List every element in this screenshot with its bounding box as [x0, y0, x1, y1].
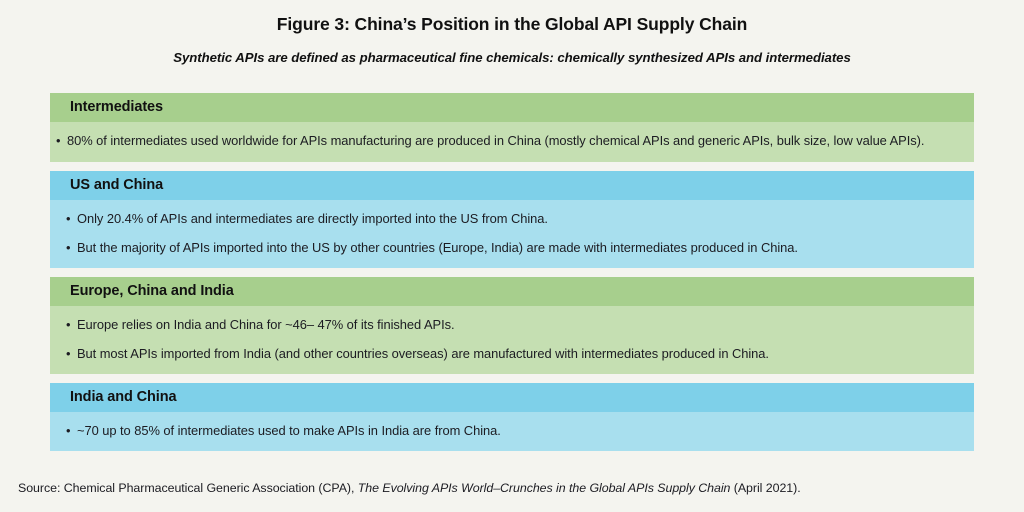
section-header-india-and-china: India and China [50, 383, 974, 412]
list-item: • Europe relies on India and China for ~… [66, 315, 958, 334]
list-item: • But most APIs imported from India (and… [66, 344, 958, 363]
source-note: Source: Chemical Pharmaceutical Generic … [18, 480, 801, 496]
list-item: • 80% of intermediates used worldwide fo… [56, 131, 958, 151]
bullet-icon: • [66, 238, 77, 257]
section-header-europe-china-india: Europe, China and India [50, 277, 974, 306]
bullet-icon: • [66, 344, 77, 363]
section-body-us-and-china: • Only 20.4% of APIs and intermediates a… [50, 200, 974, 268]
source-suffix: (April 2021). [730, 481, 800, 495]
bullet-icon: • [66, 209, 77, 228]
section-stack: Intermediates • 80% of intermediates use… [50, 93, 974, 451]
source-prefix: Source: Chemical Pharmaceutical Generic … [18, 481, 358, 495]
section-europe-china-india: Europe, China and India • Europe relies … [50, 277, 974, 374]
bullet-icon: • [66, 315, 77, 334]
section-body-europe-china-india: • Europe relies on India and China for ~… [50, 306, 974, 374]
page-title: Figure 3: China’s Position in the Global… [0, 14, 1024, 35]
source-title: The Evolving APIs World–Crunches in the … [358, 481, 731, 495]
list-item-text: Only 20.4% of APIs and intermediates are… [77, 209, 958, 228]
section-header-us-and-china: US and China [50, 171, 974, 200]
list-item-text: Europe relies on India and China for ~46… [77, 315, 958, 334]
list-item-text: But the majority of APIs imported into t… [77, 238, 958, 257]
section-india-and-china: India and China • ~70 up to 85% of inter… [50, 383, 974, 451]
list-item-text: But most APIs imported from India (and o… [77, 344, 958, 363]
bullet-icon: • [56, 131, 67, 150]
section-header-intermediates: Intermediates [50, 93, 974, 122]
section-intermediates: Intermediates • 80% of intermediates use… [50, 93, 974, 162]
section-us-and-china: US and China • Only 20.4% of APIs and in… [50, 171, 974, 268]
list-item: • Only 20.4% of APIs and intermediates a… [66, 209, 958, 228]
page-subtitle: Synthetic APIs are defined as pharmaceut… [0, 50, 1024, 65]
list-item-text: 80% of intermediates used worldwide for … [67, 131, 958, 151]
list-item: • But the majority of APIs imported into… [66, 238, 958, 257]
bullet-icon: • [66, 421, 77, 440]
list-item: • ~70 up to 85% of intermediates used to… [66, 421, 958, 440]
figure-page: Figure 3: China’s Position in the Global… [0, 0, 1024, 512]
section-body-intermediates: • 80% of intermediates used worldwide fo… [50, 122, 974, 162]
section-body-india-and-china: • ~70 up to 85% of intermediates used to… [50, 412, 974, 451]
list-item-text: ~70 up to 85% of intermediates used to m… [77, 421, 958, 440]
